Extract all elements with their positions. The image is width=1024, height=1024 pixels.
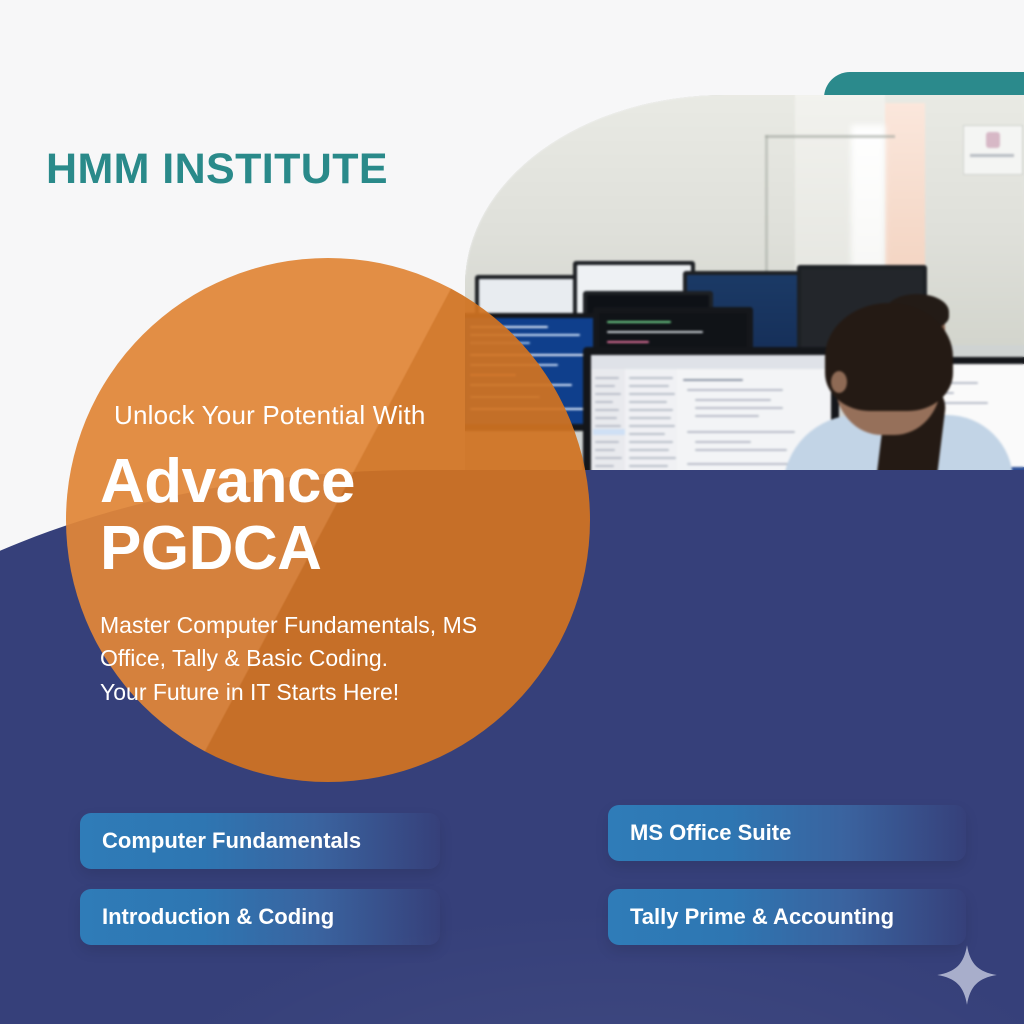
feature-pill-computer-fundamentals[interactable]: Computer Fundamentals <box>80 813 440 869</box>
hero-headline-line2: PGDCA <box>100 516 570 583</box>
promo-poster: HMM INSTITUTE Unlock Your Potential With… <box>0 0 1024 1024</box>
hero-description-line1: Master Computer Fundamentals, MS <box>100 609 570 642</box>
feature-pill-label: Tally Prime & Accounting <box>630 904 894 930</box>
feature-pill-label: Computer Fundamentals <box>102 828 361 854</box>
feature-pill-label: Introduction & Coding <box>102 904 334 930</box>
photo-wall-poster <box>963 125 1023 175</box>
feature-pill-ms-office-suite[interactable]: MS Office Suite <box>608 805 966 861</box>
brand-logo: HMM INSTITUTE <box>46 145 388 194</box>
hero-copy: Unlock Your Potential With Advance PGDCA… <box>100 400 570 709</box>
photo-frame-line <box>765 135 895 138</box>
hero-headline-line1: Advance <box>100 449 570 516</box>
hero-description-line2: Office, Tally & Basic Coding. <box>100 642 570 675</box>
sparkle-icon <box>936 944 998 1006</box>
hero-description: Master Computer Fundamentals, MS Office,… <box>100 609 570 709</box>
hero-headline: Advance PGDCA <box>100 449 570 583</box>
feature-pill-label: MS Office Suite <box>630 820 791 846</box>
feature-pill-tally-prime-accounting[interactable]: Tally Prime & Accounting <box>608 889 966 945</box>
hero-description-line3: Your Future in IT Starts Here! <box>100 676 570 709</box>
hero-eyebrow: Unlock Your Potential With <box>114 400 570 431</box>
feature-pill-introduction-coding[interactable]: Introduction & Coding <box>80 889 440 945</box>
